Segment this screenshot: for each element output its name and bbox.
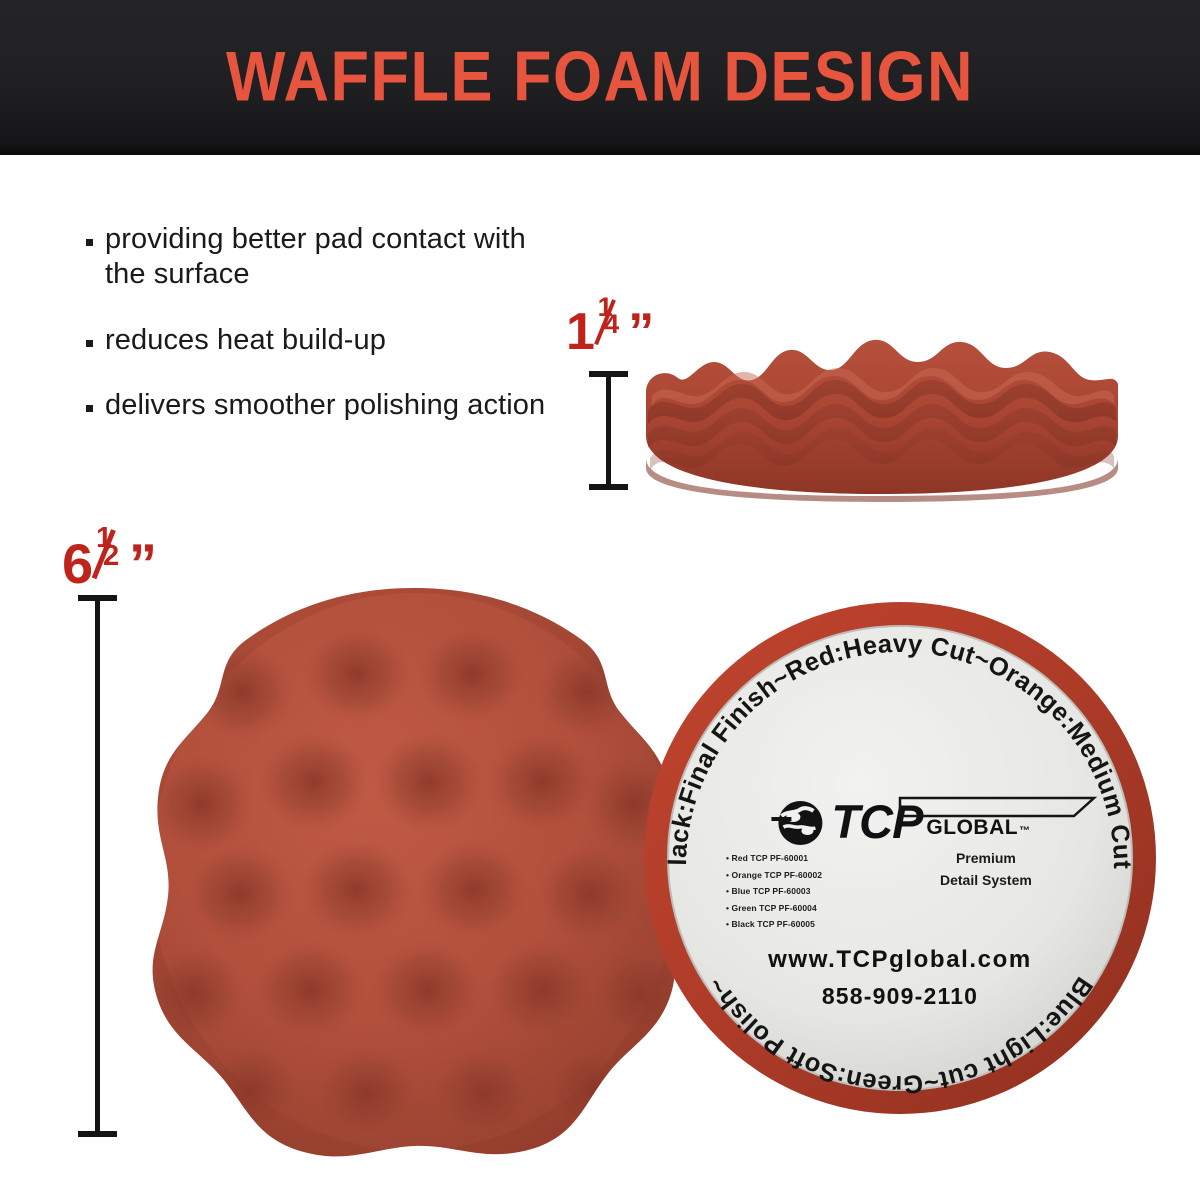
list-item: reduces heat build-up [86,323,556,358]
diameter-fraction: 12 [94,527,129,583]
infographic-canvas: WAFFLE FOAM DESIGN providing better pad … [0,0,1200,1200]
pad-label-disc [640,598,1160,1118]
pad-side-view [622,318,1142,508]
thickness-whole: 1 [566,303,595,361]
diameter-cap-top [78,595,117,601]
list-item: delivers smoother polishing action [86,388,556,423]
diameter-whole: 6 [62,532,93,595]
bullet-dot-icon [86,340,93,347]
diameter-denominator: 2 [103,542,119,571]
thickness-dimension-line [606,373,611,489]
bullet-dot-icon [86,405,93,412]
page-title: WAFFLE FOAM DESIGN [226,42,974,113]
bullet-text: reduces heat build-up [105,323,386,358]
bullet-dot-icon [86,239,93,246]
bullet-text: delivers smoother polishing action [105,388,545,423]
thickness-denominator: 4 [604,311,619,338]
header-banner: WAFFLE FOAM DESIGN [0,0,1200,155]
feature-bullet-list: providing better pad contact with the su… [86,222,556,454]
diameter-cap-bottom [78,1131,117,1137]
list-item: providing better pad contact with the su… [86,222,556,293]
bullet-text: providing better pad contact with the su… [105,222,556,293]
diameter-dimension-line [95,597,100,1137]
pad-front-waffle-face [142,582,687,1160]
